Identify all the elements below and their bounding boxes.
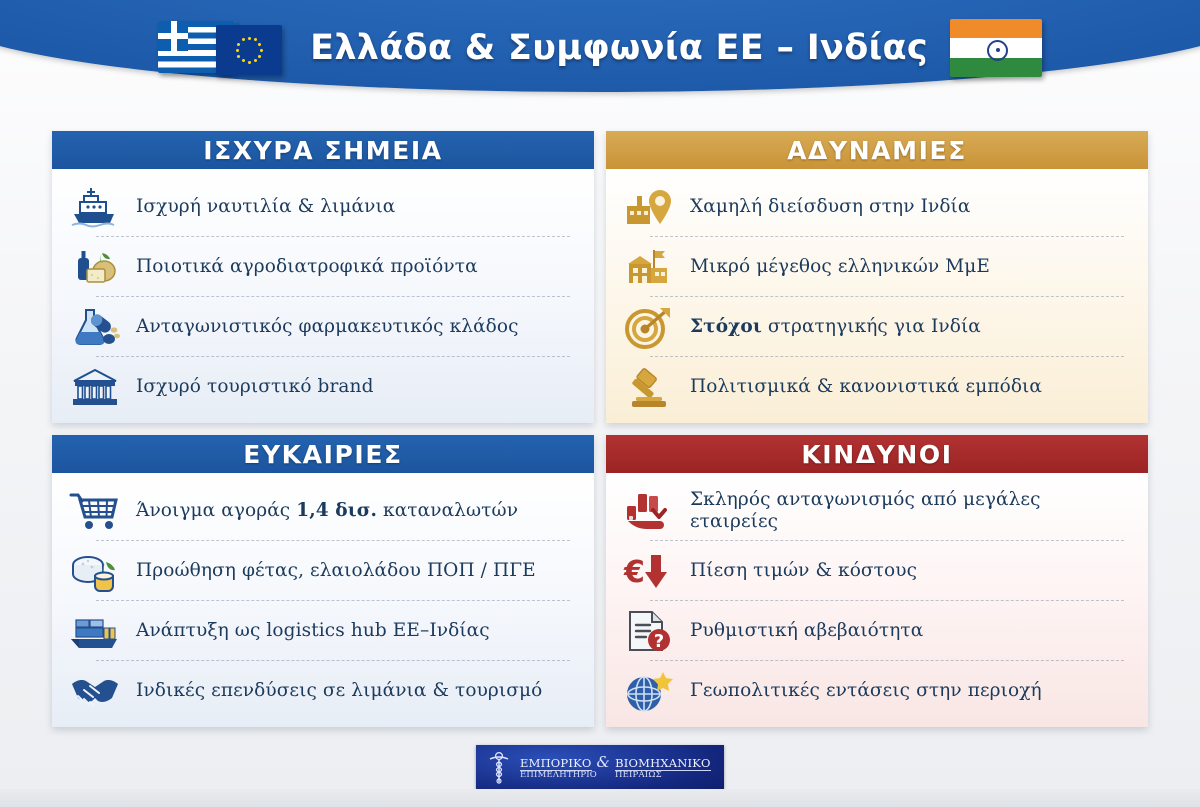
list-item[interactable]: Στόχοι στρατηγικής για Ινδία [620,297,1134,357]
list-item[interactable]: Σκληρός ανταγωνισμός από μεγάλες εταιρεί… [620,481,1134,541]
temple-icon [68,364,122,410]
list-item-label: Μικρό μέγεθος ελληνικών ΜμΕ [690,256,990,278]
panel-strengths-title: ΙΣΧΥΡΑ ΣΗΜΕΙΑ [52,131,594,169]
list-item[interactable]: Μικρό μέγεθος ελληνικών ΜμΕ [620,237,1134,297]
list-item[interactable]: Γεωπολιτικές εντάσεις στην περιοχή [620,661,1134,721]
list-item-label: Ισχυρή ναυτιλία & λιμάνια [136,196,395,218]
declining-bars-hand-icon [622,488,676,534]
slide-canvas: Ελλάδα & Συμφωνία ΕΕ – Ινδίας ΙΣΧΥΡΑ ΣΗΜ… [0,0,1200,807]
list-item-label: Ανάπτυξη ως logistics hub ΕΕ–Ινδίας [136,620,490,642]
flags-left-group [158,19,288,77]
svg-text:€: € [623,555,645,590]
panel-risks-title: ΚΙΝΔΥΝΟΙ [606,435,1148,473]
list-item-label: Ανταγωνιστικός φαρμακευτικός κλάδος [136,316,519,338]
list-item[interactable]: Πολιτισμικά & κανονιστικά εμπόδια [620,357,1134,417]
list-item-label: Χαμηλή διείσδυση στην Ινδία [690,196,971,218]
list-item-label: Σκληρός ανταγωνισμός από μεγάλες εταιρεί… [690,489,1132,533]
panel-opportunities: ΕΥΚΑΙΡΙΕΣ Άνοιγμα αγορά [52,435,594,727]
caduceus-icon [486,750,512,784]
list-item[interactable]: Ισχυρή ναυτιλία & λιμάνια [66,177,580,237]
flask-pill-icon [68,304,122,350]
feta-olive-oil-icon [68,548,122,594]
list-item-label-pre: Άνοιγμα αγοράς [136,500,296,521]
list-item[interactable]: Άνοιγμα αγοράς 1,4 δισ. καταναλωτών [66,481,580,541]
gavel-icon [622,364,676,410]
list-item[interactable]: Χαμηλή διείσδυση στην Ινδία [620,177,1134,237]
list-item-label: Πολιτισμικά & κανονιστικά εμπόδια [690,376,1042,398]
logo-line2-right: ΠΕΙΡΑΙΩΣ [615,771,662,780]
list-item-label: Γεωπολιτικές εντάσεις στην περιοχή [690,680,1042,702]
chamber-logo: ΕΜΠΟΡΙΚΟ & ΒΙΟΜΗΧΑΝΙΚΟ ΕΠΙΜΕΛΗΤΗΡΙΟ ΠΕΙΡ… [476,745,724,789]
header-banner: Ελλάδα & Συμφωνία ΕΕ – Ινδίας [0,0,1200,104]
panel-opportunities-title: ΕΥΚΑΙΡΙΕΣ [52,435,594,473]
handshake-icon [68,668,122,714]
logo-line1-left: ΕΜΠΟΡΙΚΟ [520,757,592,771]
globe-star-icon [622,668,676,714]
shopping-cart-icon [68,488,122,534]
list-item-label: Ινδικές επενδύσεις σε λιμάνια & τουρισμό [136,680,542,702]
factory-location-pin-icon [622,184,676,230]
page-title: Ελλάδα & Συμφωνία ΕΕ – Ινδίας [310,28,928,68]
logo-ampersand: & [597,755,611,771]
list-item-label: Προώθηση φέτας, ελαιολάδου ΠΟΠ / ΠΓΕ [136,560,536,582]
list-item[interactable]: Ανταγωνιστικός φαρμακευτικός κλάδος [66,297,580,357]
list-item-label-bold: Στόχοι [690,316,762,337]
logo-line1-right: ΒΙΟΜΗΧΑΝΙΚΟ [615,757,711,771]
european-union-flag-icon [216,25,282,75]
list-item-label: Ποιοτικά αγροδιατροφικά προϊόντα [136,256,478,278]
list-item-label: Άνοιγμα αγοράς 1,4 δισ. καταναλωτών [136,500,518,522]
list-item-label: Στόχοι στρατηγικής για Ινδία [690,316,981,338]
logo-line2-left: ΕΠΙΜΕΛΗΤΗΡΙΟ [520,771,597,780]
list-item-label-bold: 1,4 δισ. [296,500,377,521]
list-item-label-post: καταναλωτών [377,500,518,521]
list-item[interactable]: Ανάπτυξη ως logistics hub ΕΕ–Ινδίας [66,601,580,661]
list-item[interactable]: Προώθηση φέτας, ελαιολάδου ΠΟΠ / ΠΓΕ [66,541,580,601]
svg-text:?: ? [654,631,664,652]
panel-weaknesses-title: ΑΔΥΝΑΜΙΕΣ [606,131,1148,169]
swot-grid: ΙΣΧΥΡΑ ΣΗΜΕΙΑ [52,131,1148,729]
olive-oil-cheese-icon [68,244,122,290]
container-ship-icon [68,608,122,654]
list-item[interactable]: Ποιοτικά αγροδιατροφικά προϊόντα [66,237,580,297]
india-flag-icon [950,19,1042,77]
ship-icon [68,184,122,230]
euro-down-arrow-icon: € [622,548,676,594]
list-item[interactable]: Ινδικές επενδύσεις σε λιμάνια & τουρισμό [66,661,580,721]
list-item-label: Ρυθμιστική αβεβαιότητα [690,620,923,642]
footer: ΕΜΠΟΡΙΚΟ & ΒΙΟΜΗΧΑΝΙΚΟ ΕΠΙΜΕΛΗΤΗΡΙΟ ΠΕΙΡ… [0,745,1200,789]
panel-strengths: ΙΣΧΥΡΑ ΣΗΜΕΙΑ [52,131,594,423]
list-item[interactable]: Ισχυρό τουριστικό brand [66,357,580,417]
target-arrow-icon [622,304,676,350]
list-item-label: Ισχυρό τουριστικό brand [136,376,374,398]
list-item[interactable]: ? Ρυθμιστική αβεβαιότητα [620,601,1134,661]
list-item-label-rest: στρατηγικής για Ινδία [762,316,981,337]
list-item-label: Πίεση τιμών & κόστους [690,560,917,582]
panel-weaknesses: ΑΔΥΝΑΜΙΕΣ Χαμηλή διείσδυση στην Ινδί [606,131,1148,423]
small-building-flag-icon [622,244,676,290]
document-question-icon: ? [622,608,676,654]
panel-risks: ΚΙΝΔΥΝΟΙ Σκληρός ανταγωνισμός από με [606,435,1148,727]
list-item[interactable]: € Πίεση τιμών & κόστους [620,541,1134,601]
